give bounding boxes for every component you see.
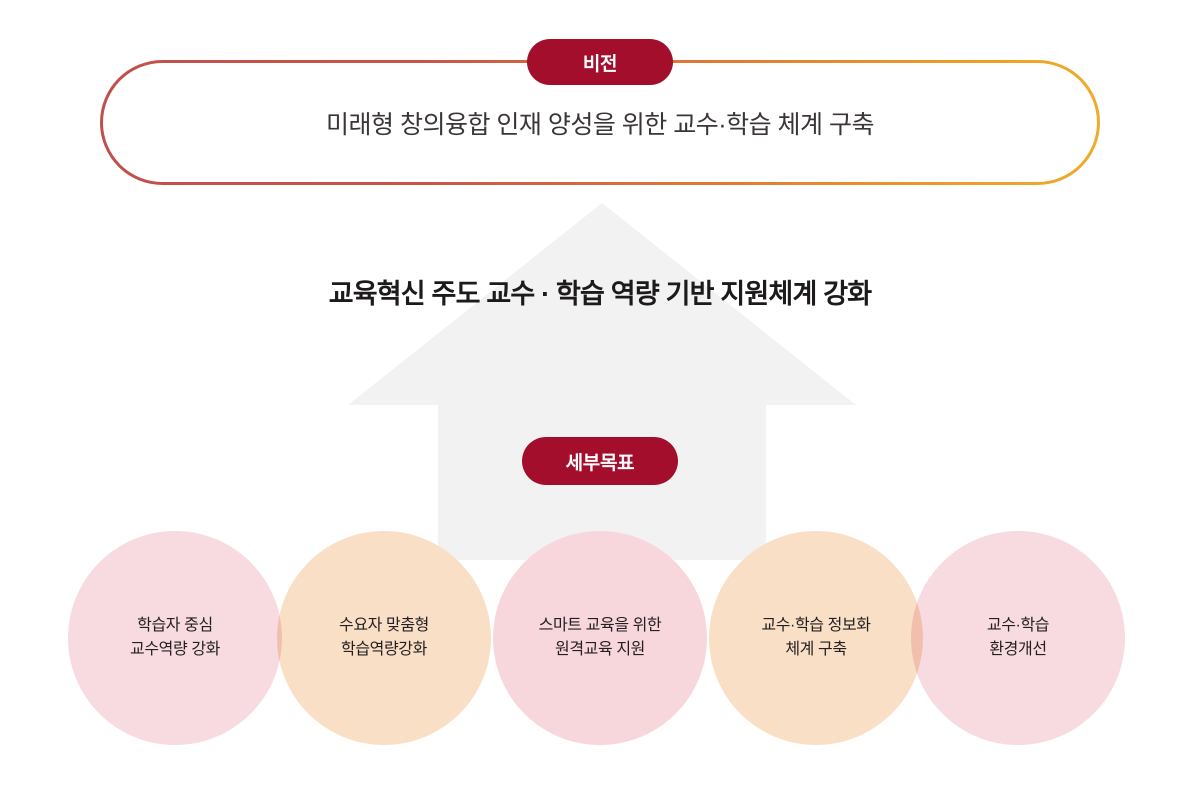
vision-badge: 비전 <box>527 39 673 85</box>
subgoal-circle[interactable] <box>277 531 491 745</box>
subgoal-circle[interactable] <box>493 531 707 745</box>
strategy-headline: 교육혁신 주도 교수 · 학습 역량 기반 지원체계 강화 <box>0 272 1200 311</box>
strategy-diagram: 미래형 창의융합 인재 양성을 위한 교수·학습 체계 구축 비전 교육혁신 주… <box>0 0 1200 800</box>
subgoal-circle[interactable] <box>68 531 282 745</box>
subgoal-badge: 세부목표 <box>522 437 678 485</box>
subgoal-circle[interactable] <box>709 531 923 745</box>
subgoal-circle[interactable] <box>911 531 1125 745</box>
subgoal-circle-row <box>0 0 1200 800</box>
